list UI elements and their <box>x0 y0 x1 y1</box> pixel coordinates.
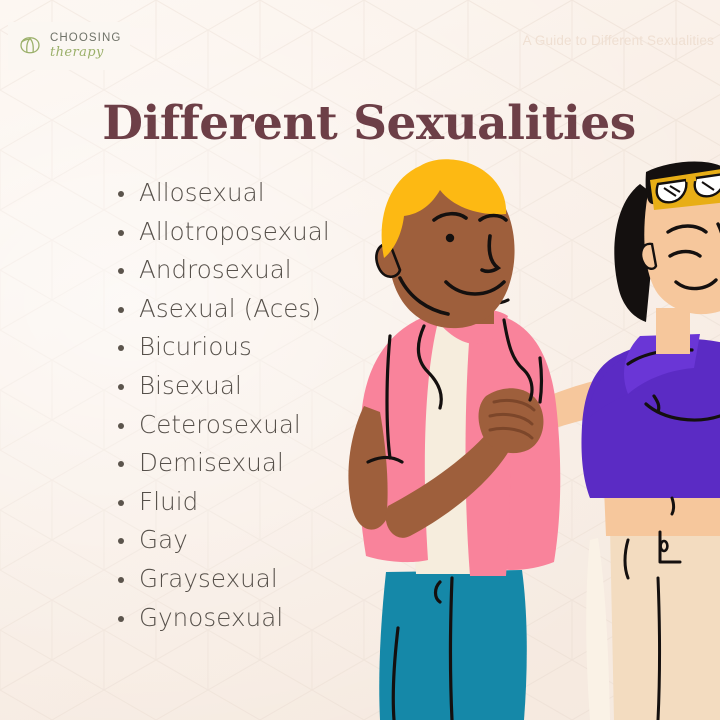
list-item-label: Allosexual <box>139 178 265 207</box>
right-person-navel <box>672 498 674 514</box>
bullet-icon <box>118 345 124 351</box>
logo-secondary-text: therapy <box>50 46 121 59</box>
list-item-label: Graysexual <box>139 564 278 593</box>
bullet-icon <box>118 616 124 622</box>
list-item-label: Ceterosexual <box>139 410 301 439</box>
infographic-canvas: CHOOSING therapy A Guide to Different Se… <box>0 0 720 720</box>
bullet-icon <box>118 423 124 429</box>
list-item-label: Demisexual <box>139 448 284 477</box>
right-person-ear <box>641 244 656 269</box>
list-item-label: Gay <box>139 525 188 554</box>
list-item-label: Allotroposexual <box>139 217 330 246</box>
bullet-icon <box>118 384 124 390</box>
list-item-label: Gynosexual <box>139 603 283 632</box>
list-item-label: Bisexual <box>139 371 242 400</box>
person-left <box>348 159 560 720</box>
bullet-icon <box>118 230 124 236</box>
left-person-hand <box>479 388 544 453</box>
bullet-icon <box>118 538 124 544</box>
bullet-icon <box>118 500 124 506</box>
page-title: Different Sexualities <box>0 96 720 151</box>
brand-logo[interactable]: CHOOSING therapy <box>8 22 130 70</box>
left-person-arm-left <box>348 406 387 530</box>
two-people-illustration <box>328 158 720 720</box>
right-person-neck <box>656 308 690 354</box>
bullet-icon <box>118 268 124 274</box>
bullet-icon <box>118 191 124 197</box>
list-item-label: Fluid <box>139 487 198 516</box>
right-person-pant-left <box>586 538 610 720</box>
bullet-icon <box>118 461 124 467</box>
right-person-pants <box>610 528 720 720</box>
list-item-label: Asexual (Aces) <box>139 294 321 323</box>
logo-primary-text: CHOOSING <box>50 33 121 45</box>
list-item-label: Bicurious <box>139 332 252 361</box>
bullet-icon <box>118 577 124 583</box>
list-item-label: Androsexual <box>139 255 292 284</box>
logo-wordmark: CHOOSING therapy <box>50 33 121 59</box>
leaf-logo-icon <box>15 31 45 61</box>
header-caption: A Guide to Different Sexualities <box>523 33 714 48</box>
bullet-icon <box>118 307 124 313</box>
